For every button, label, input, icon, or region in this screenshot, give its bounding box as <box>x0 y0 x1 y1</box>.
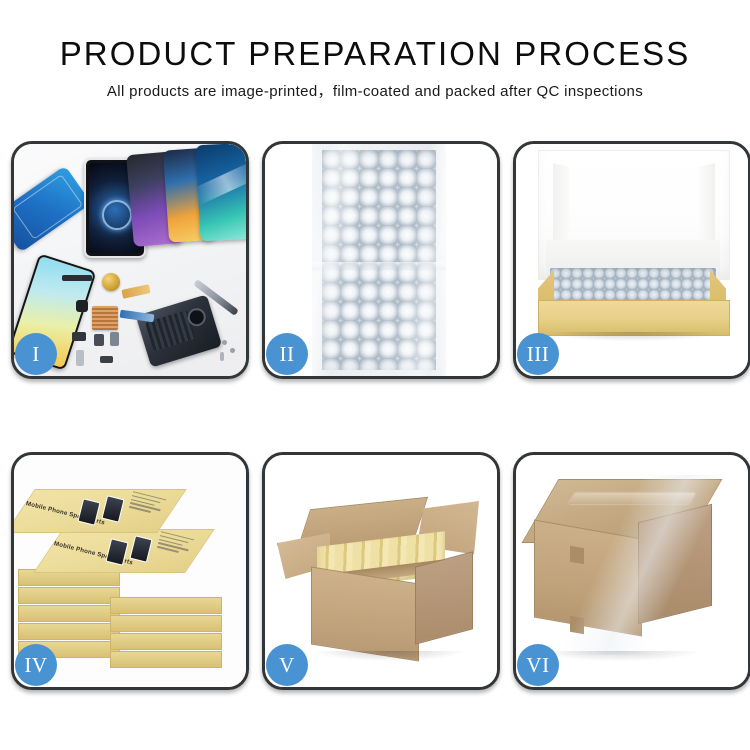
bubble-wrap-bag <box>312 144 446 376</box>
carton-shadow <box>315 651 465 661</box>
page-header: PRODUCT PREPARATION PROCESS All products… <box>0 0 750 103</box>
step-number-badge: II <box>266 333 308 375</box>
bubble-wrap-sheet <box>322 150 436 370</box>
process-step-grid: I II III <box>11 141 746 684</box>
mesh-grid-part <box>92 306 118 330</box>
step-number-badge: VI <box>517 644 559 686</box>
inner-box-front-panel <box>538 300 730 336</box>
bubble-wrapped-product <box>550 268 716 302</box>
process-step-1[interactable]: I <box>11 141 249 379</box>
chip-part-e <box>100 356 113 363</box>
sealed-carton-side <box>638 504 712 624</box>
chip-part-a <box>72 332 86 341</box>
packing-tape-seam <box>569 493 695 504</box>
screw-part-2 <box>230 348 235 353</box>
earpiece-strip-part <box>62 275 92 281</box>
process-step-6[interactable]: VI <box>513 452 750 690</box>
process-step-3[interactable]: III <box>513 141 750 379</box>
process-step-5[interactable]: V <box>262 452 500 690</box>
sealed-carton-front <box>534 519 642 636</box>
carton-hand-hole-top <box>570 546 584 564</box>
phone-screen-teal <box>196 144 246 241</box>
step-number-badge: IV <box>15 644 57 686</box>
chip-part-c <box>110 332 119 346</box>
page-subtitle: All products are image-printed，film-coat… <box>0 81 750 103</box>
bubble-wrap-seam <box>312 262 446 270</box>
carton-side-panel <box>415 551 473 645</box>
speaker-part <box>102 273 120 291</box>
step-number-badge: I <box>15 333 57 375</box>
screw-part-1 <box>222 340 227 345</box>
sealed-carton-shadow <box>540 651 700 661</box>
camera-module-part <box>76 300 88 312</box>
page-title: PRODUCT PREPARATION PROCESS <box>0 34 750 74</box>
inner-box-shadow <box>546 332 720 341</box>
step-number-badge: V <box>266 644 308 686</box>
process-step-4[interactable]: Mobile Phone Spare Parts Mobile Phone Sp… <box>11 452 249 690</box>
step-number-badge: III <box>517 333 559 375</box>
process-step-2[interactable]: II <box>262 141 500 379</box>
chip-part-d <box>76 350 84 366</box>
carton-hand-hole-bottom <box>570 616 584 634</box>
chip-part-b <box>94 334 104 346</box>
screw-part-3 <box>220 352 224 361</box>
